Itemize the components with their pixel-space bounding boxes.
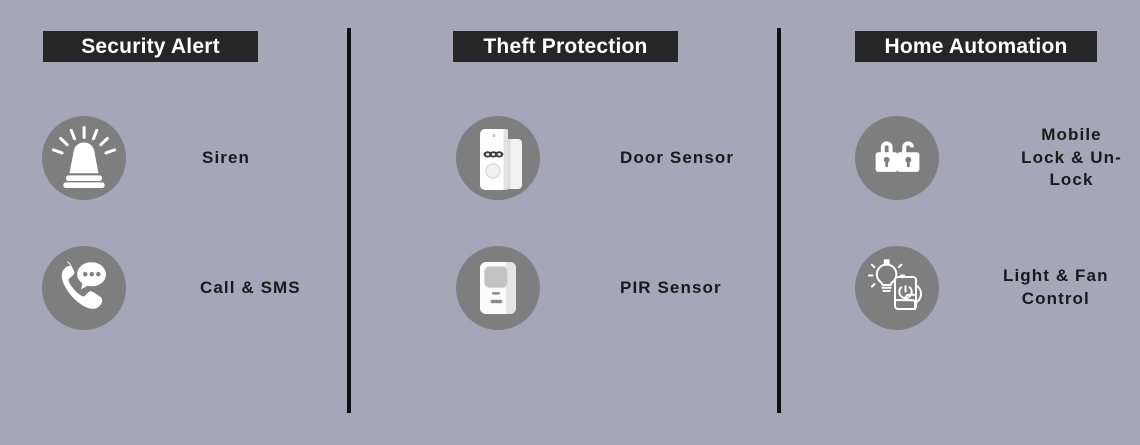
pir-sensor-icon bbox=[456, 246, 540, 330]
column-security-alert: Security Alert bbox=[0, 0, 347, 445]
feature-label-pir-sensor: PIR Sensor bbox=[620, 277, 722, 300]
light-fan-control-icon bbox=[855, 246, 939, 330]
door-sensor-icon bbox=[456, 116, 540, 200]
feature-label-light-fan-control: Light & Fan Control bbox=[1003, 265, 1109, 311]
banner-theft-protection: Theft Protection bbox=[453, 31, 678, 62]
feature-pir-sensor[interactable]: PIR Sensor bbox=[456, 246, 722, 330]
banner-security-alert: Security Alert bbox=[43, 31, 258, 62]
siren-icon bbox=[42, 116, 126, 200]
banner-home-automation: Home Automation bbox=[855, 31, 1097, 62]
column-theft-protection: Theft Protection bbox=[351, 0, 777, 445]
feature-label-siren: Siren bbox=[202, 147, 250, 170]
feature-label-mobile-lock-unlock: Mobile Lock & Un-Lock bbox=[1003, 124, 1140, 193]
feature-mobile-lock-unlock[interactable]: Mobile Lock & Un-Lock bbox=[855, 116, 1140, 200]
feature-label-call-sms: Call & SMS bbox=[200, 277, 301, 300]
column-home-automation: Home Automation bbox=[781, 0, 1140, 445]
feature-light-fan-control[interactable]: Light & Fan Control bbox=[855, 246, 1109, 330]
feature-board: Security Alert bbox=[0, 0, 1140, 445]
call-sms-icon bbox=[42, 246, 126, 330]
feature-label-door-sensor: Door Sensor bbox=[620, 147, 734, 170]
feature-call-sms[interactable]: Call & SMS bbox=[42, 246, 301, 330]
padlock-pair-icon bbox=[855, 116, 939, 200]
feature-siren[interactable]: Siren bbox=[42, 116, 250, 200]
feature-door-sensor[interactable]: Door Sensor bbox=[456, 116, 734, 200]
